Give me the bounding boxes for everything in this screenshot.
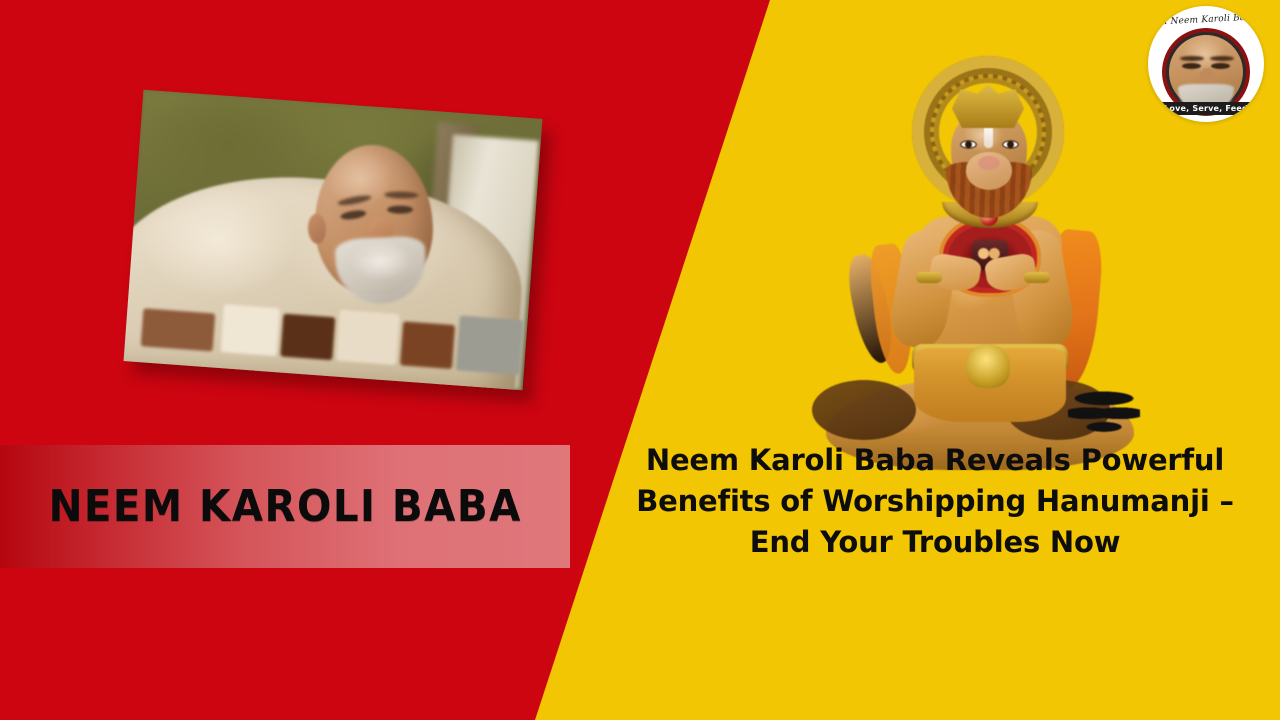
subject-ear bbox=[307, 213, 326, 244]
logo-tagline: Love, Serve, Feed bbox=[1158, 102, 1254, 115]
hanuman-statue bbox=[800, 48, 1160, 438]
belt-buckle-ornament bbox=[966, 344, 1010, 388]
title-bar: NEEM KAROLI BABA bbox=[0, 445, 570, 568]
hanuman-nose bbox=[978, 156, 1000, 170]
banner-canvas: Jai Neem Karoli Baba Love, Serve, Feed N… bbox=[0, 0, 1280, 720]
page-title: NEEM KAROLI BABA bbox=[48, 481, 521, 532]
neem-karoli-baba-photo bbox=[124, 90, 543, 391]
photo-contents bbox=[124, 90, 543, 391]
channel-logo-badge[interactable]: Jai Neem Karoli Baba Love, Serve, Feed bbox=[1148, 6, 1264, 122]
hanuman-knee-left bbox=[812, 380, 916, 440]
photo-subject bbox=[124, 90, 543, 391]
hanuman-crown bbox=[952, 84, 1024, 128]
foreground-plant-silhouette bbox=[1068, 386, 1140, 448]
headline-text: Neem Karoli Baba Reveals Powerful Benefi… bbox=[620, 440, 1250, 564]
